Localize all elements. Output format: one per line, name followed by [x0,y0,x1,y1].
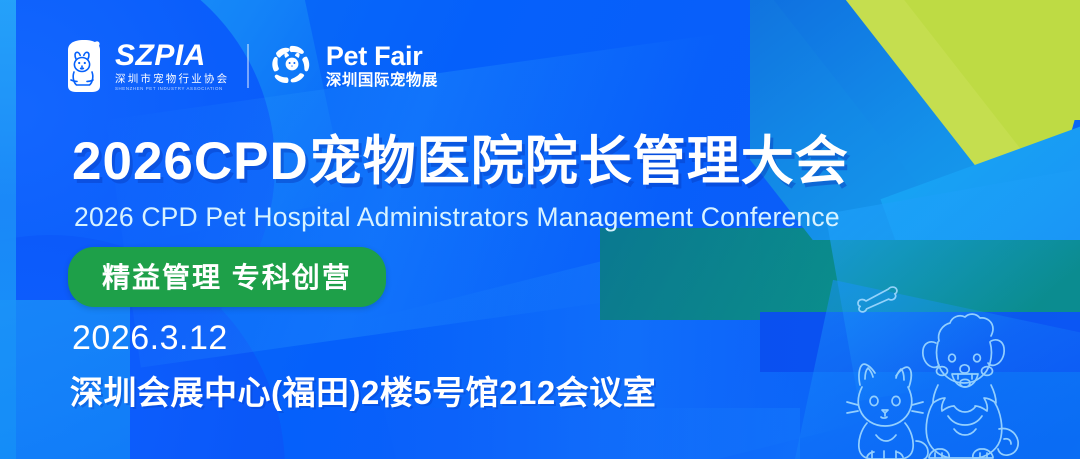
background-cyan-wedge [880,110,1080,240]
page-title: 2026CPD宠物医院院长管理大会 [72,134,849,190]
background-lime-circle [828,0,1078,216]
szpia-chinese-name: 深圳市宠物行业协会 [115,74,229,85]
event-date: 2026.3.12 [72,319,228,358]
petfair-chinese-name: 深圳国际宠物展 [326,72,438,89]
conference-banner: SZPIA 深圳市宠物行业协会 SHENZHEN PET INDUSTRY AS… [0,0,1080,459]
background-lime-block [900,0,1080,120]
logo-divider [247,44,249,88]
petfair-logo[interactable]: Pet Fair 深圳国际宠物展 [267,41,438,91]
background-teal-band-shade [600,228,1080,320]
szpia-wordmark: SZPIA [115,41,229,71]
petfair-wordmark-block: Pet Fair 深圳国际宠物展 [326,43,438,90]
pet-collage-circle-icon [267,41,317,91]
szpia-wordmark-block: SZPIA 深圳市宠物行业协会 SHENZHEN PET INDUSTRY AS… [115,41,229,91]
petfair-wordmark: Pet Fair [326,43,438,71]
background-strip-left [0,0,16,459]
theme-badge: 精益管理 专科创营 [68,247,386,307]
szpia-logo[interactable]: SZPIA 深圳市宠物行业协会 SHENZHEN PET INDUSTRY AS… [62,38,229,94]
cat-in-shield-icon [62,38,106,94]
background-blue-band-bottom [300,408,800,459]
background-blue-band-lower-right [760,312,1080,372]
logo-row: SZPIA 深圳市宠物行业协会 SHENZHEN PET INDUSTRY AS… [62,38,438,94]
background-teal-band [600,228,1080,320]
event-venue: 深圳会展中心(福田)2楼5号馆212会议室 [70,366,656,414]
szpia-english-name: SHENZHEN PET INDUSTRY ASSOCIATION [115,87,229,91]
pet-illustration [834,279,1074,459]
background-wedge-right [825,169,1080,401]
background-wedge-bottom-right [794,280,1080,459]
page-subtitle: 2026 CPD Pet Hospital Administrators Man… [74,203,840,232]
